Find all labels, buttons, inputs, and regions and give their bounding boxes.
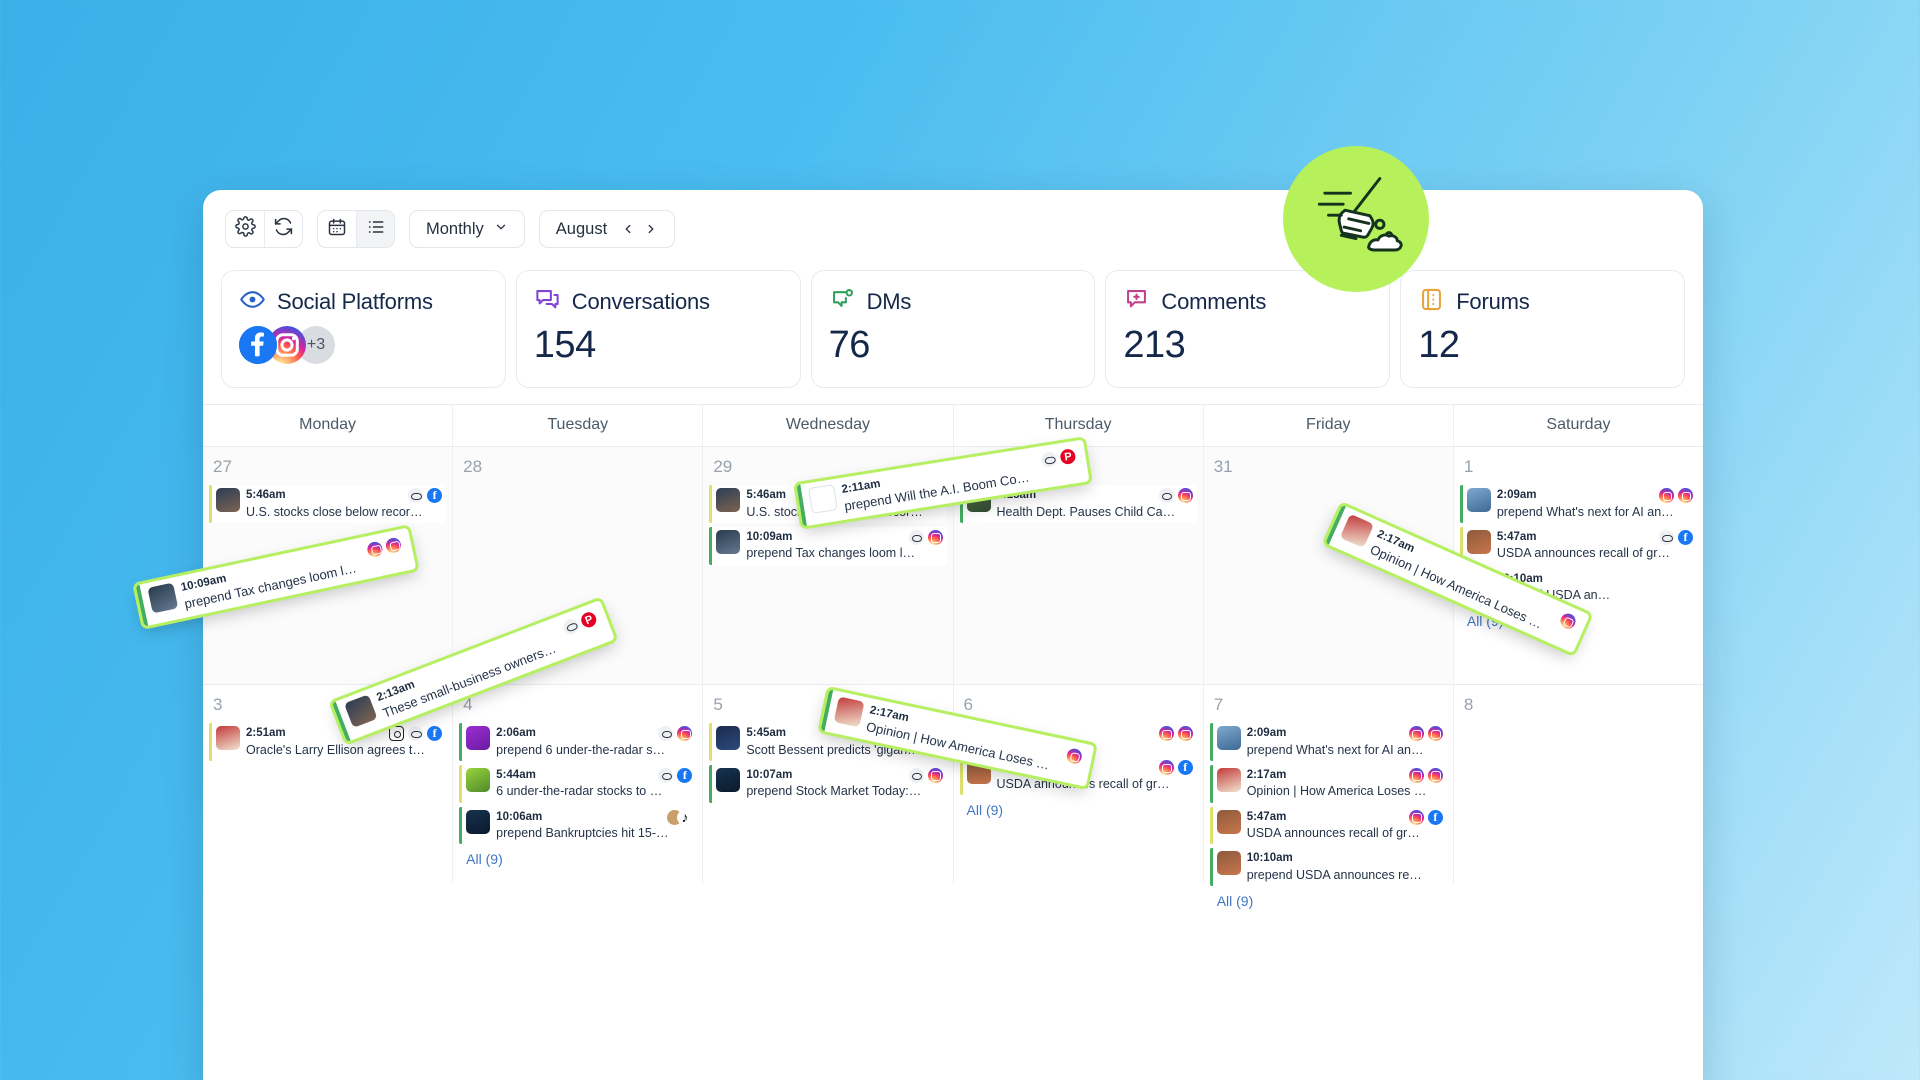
day-of-week-header: Friday [1204, 405, 1454, 446]
calendar-event[interactable]: 2:06amprepend 6 under-the-radar s… [459, 723, 696, 761]
instagram-icon [385, 536, 403, 554]
avatar-icon [1409, 726, 1424, 741]
day-of-week-header: Saturday [1454, 405, 1703, 446]
event-list: 2:06amprepend 6 under-the-radar s…5:44am… [459, 723, 696, 844]
event-thumbnail [1467, 530, 1491, 554]
show-all-events-link[interactable]: All (9) [1210, 886, 1447, 909]
event-title: prepend 6 under-the-radar s… [496, 742, 692, 758]
toolbar: Monthly August [203, 190, 1703, 254]
avatar-icon [1659, 488, 1674, 503]
facebook-icon [239, 326, 277, 364]
calendar-event[interactable]: 2:51amOracle's Larry Ellison agrees t… [209, 723, 446, 761]
instagram-icon [1178, 726, 1193, 741]
next-month-button[interactable] [644, 222, 658, 236]
event-thumbnail [216, 726, 240, 750]
visibility-icon [1041, 451, 1058, 468]
event-title: prepend What's next for AI an… [1247, 742, 1443, 758]
stat-card-social-platforms[interactable]: Social Platforms +3 [221, 270, 506, 388]
calendar-event[interactable]: 10:06amprepend Bankruptcies hit 15-… [459, 807, 696, 845]
stat-title: Social Platforms [277, 289, 433, 315]
chevron-down-icon [494, 220, 508, 239]
cleanup-badge[interactable] [1283, 146, 1429, 292]
avatar-icon [1409, 768, 1424, 783]
view-toggle-group [317, 210, 395, 248]
calendar-event[interactable]: 5:47amUSDA announces recall of gr… [1460, 527, 1697, 565]
stat-value: 213 [1123, 324, 1372, 367]
list-icon [366, 217, 386, 242]
event-title: Opinion | How America Loses … [1247, 783, 1443, 799]
gear-icon [235, 216, 256, 242]
visibility-icon [909, 530, 924, 545]
day-of-week-header: Monday [203, 405, 453, 446]
day-number: 28 [459, 455, 696, 485]
event-platform-icons [408, 488, 442, 503]
event-platform-icons [658, 726, 692, 741]
stat-title: Comments [1161, 289, 1266, 315]
event-thumbnail [466, 810, 490, 834]
event-thumbnail [1217, 726, 1241, 750]
day-number: 31 [1210, 455, 1447, 485]
event-list: 2:51amOracle's Larry Ellison agrees t… [209, 723, 446, 761]
avatar-icon [366, 540, 384, 558]
avatar-icon [1409, 810, 1424, 825]
event-platform-icons [1040, 446, 1076, 468]
event-title: USDA announces recall of gr… [997, 776, 1193, 792]
event-list: 5:46amU.S. stocks close below recor… [209, 485, 446, 523]
day-number: 6 [960, 693, 1197, 723]
event-thumbnail [1217, 810, 1241, 834]
chat-bubbles-icon [534, 286, 561, 318]
event-platform-icons [909, 768, 943, 783]
month-label: August [556, 220, 607, 239]
calendar-week-row: 32:51amOracle's Larry Ellison agrees t…4… [203, 684, 1703, 884]
day-number: 27 [209, 455, 446, 485]
visibility-icon [658, 726, 673, 741]
event-platform-icons [561, 608, 599, 636]
day-of-week-header: Wednesday [703, 405, 953, 446]
calendar-event[interactable]: 5:47amUSDA announces recall of gr… [1210, 807, 1447, 845]
visibility-icon [408, 488, 423, 503]
day-of-week-header: Tuesday [453, 405, 703, 446]
instagram-icon [1428, 768, 1443, 783]
day-number: 7 [1210, 693, 1447, 723]
day-number: 8 [1460, 693, 1697, 723]
calendar-view-button[interactable] [318, 211, 356, 247]
calendar-event[interactable]: 2:17amOpinion | How America Loses … [1210, 765, 1447, 803]
stat-value: 154 [534, 324, 783, 367]
event-thumbnail [466, 726, 490, 750]
event-title: prepend Bankruptcies hit 15-… [496, 825, 692, 841]
instagram-icon [677, 726, 692, 741]
event-thumbnail [216, 488, 240, 512]
event-thumbnail [147, 583, 178, 614]
visibility-icon [658, 768, 673, 783]
tiktok-icon [677, 810, 692, 825]
broom-icon [1301, 162, 1411, 277]
show-all-events-link[interactable]: All (9) [459, 844, 696, 867]
instagram-icon [1428, 726, 1443, 741]
event-title: prepend USDA announces re… [1247, 867, 1443, 883]
calendar-day-cell[interactable]: 42:06amprepend 6 under-the-radar s…5:44a… [453, 685, 703, 884]
month-navigator[interactable]: August [539, 210, 675, 248]
event-platform-icons [1159, 726, 1193, 741]
facebook-icon [427, 726, 442, 741]
event-platform-icons [909, 530, 943, 545]
calendar-icon [327, 217, 347, 242]
refresh-icon [273, 216, 294, 242]
event-thumbnail [716, 488, 740, 512]
event-thumbnail [716, 726, 740, 750]
stat-cards: Social Platforms +3 C [203, 254, 1703, 404]
event-thumbnail [466, 768, 490, 792]
pinterest-icon [579, 610, 598, 629]
event-thumbnail [716, 768, 740, 792]
pinterest-icon [1059, 448, 1076, 465]
instagram-icon [1065, 747, 1083, 765]
list-view-button[interactable] [356, 211, 394, 247]
event-platform-icons [1409, 810, 1443, 825]
visibility-icon [1159, 488, 1174, 503]
stat-value: 76 [829, 324, 1078, 367]
event-title: prepend What's next for AI an… [1497, 504, 1693, 520]
instagram-icon [928, 530, 943, 545]
calendar-event[interactable]: 5:46amU.S. stocks close below recor… [209, 485, 446, 523]
avatar-icon [1159, 760, 1174, 775]
event-thumbnail [1217, 768, 1241, 792]
event-time: 10:06am [496, 810, 692, 826]
prev-month-button[interactable] [621, 222, 635, 236]
event-platform-icons [1159, 760, 1193, 775]
event-title: USDA announces recall of gr… [1497, 545, 1693, 561]
visibility-icon [909, 768, 924, 783]
app-window: Monthly August [203, 190, 1703, 1080]
avatar-icon [1159, 726, 1174, 741]
event-body: 10:06amprepend Bankruptcies hit 15-… [496, 810, 692, 842]
event-title: Oracle's Larry Ellison agrees t… [246, 742, 442, 758]
event-thumbnail [1340, 514, 1374, 548]
facebook-icon [677, 768, 692, 783]
stat-title: Conversations [572, 289, 710, 315]
camera-icon [389, 726, 404, 741]
comment-plus-icon [1123, 286, 1150, 318]
event-thumbnail [808, 484, 838, 514]
event-title: prepend Stock Market Today:… [746, 783, 942, 799]
facebook-icon [1428, 810, 1443, 825]
day-number: 4 [459, 693, 696, 723]
calendar-day-cell[interactable]: 72:09amprepend What's next for AI an…2:1… [1204, 685, 1454, 884]
event-thumbnail [834, 696, 865, 727]
event-time: 10:10am [1247, 851, 1443, 867]
platform-avatars[interactable]: +3 [239, 326, 488, 364]
stat-title: Forums [1456, 289, 1529, 315]
event-title: Health Dept. Pauses Child Ca… [997, 504, 1193, 520]
show-all-events-link[interactable]: All (9) [960, 795, 1197, 818]
stat-card-forums[interactable]: Forums 12 [1400, 270, 1685, 388]
event-platform-icons [1159, 488, 1193, 503]
forums-icon [1418, 286, 1445, 318]
view-period-label: Monthly [426, 220, 484, 239]
calendar-event[interactable]: 10:07amprepend Stock Market Today:… [709, 765, 946, 803]
facebook-icon [1178, 760, 1193, 775]
event-platform-icons [366, 534, 403, 558]
refresh-button[interactable] [264, 211, 302, 247]
visibility-icon [562, 617, 581, 636]
event-platform-icons [389, 726, 442, 741]
event-title: 6 under-the-radar stocks to … [496, 783, 692, 799]
event-thumbnail [1467, 488, 1491, 512]
event-title: prepend Tax changes loom l… [746, 545, 942, 561]
calendar-event[interactable]: 5:44am6 under-the-radar stocks to … [459, 765, 696, 803]
event-platform-icons [1409, 768, 1443, 783]
eye-icon [239, 286, 266, 318]
facebook-icon [427, 488, 442, 503]
event-title: U.S. stocks close below recor… [246, 504, 442, 520]
event-body: 10:10amprepend USDA announces re… [1247, 851, 1443, 883]
calendar-day-cell[interactable]: 8 [1454, 685, 1703, 884]
event-thumbnail [716, 530, 740, 554]
instagram-icon [1558, 611, 1578, 631]
stat-title: DMs [867, 289, 912, 315]
calendar-header-row: MondayTuesdayWednesdayThursdayFridaySatu… [203, 405, 1703, 446]
calendar-event[interactable]: 2:09amprepend What's next for AI an… [1210, 723, 1447, 761]
calendar-event[interactable]: 10:09amprepend Tax changes loom l… [709, 527, 946, 565]
visibility-icon [1659, 530, 1674, 545]
calendar-event[interactable]: 10:10amprepend USDA announces re… [1210, 848, 1447, 886]
day-number: 1 [1460, 455, 1697, 485]
settings-button[interactable] [226, 211, 264, 247]
stat-card-conversations[interactable]: Conversations 154 [516, 270, 801, 388]
event-thumbnail [344, 694, 378, 728]
event-platform-icons [1409, 726, 1443, 741]
visibility-icon [408, 726, 423, 741]
event-platform-icons [1558, 609, 1579, 631]
stat-value: 12 [1418, 324, 1667, 367]
instagram-icon [1178, 488, 1193, 503]
event-platform-icons [658, 768, 692, 783]
event-list: 2:09amprepend What's next for AI an…2:17… [1210, 723, 1447, 886]
calendar-day-cell[interactable]: 12:09amprepend What's next for AI an…5:4… [1454, 447, 1703, 684]
instagram-icon [1678, 488, 1693, 503]
facebook-icon [1678, 530, 1693, 545]
dm-bubble-icon [829, 286, 856, 318]
instagram-icon [928, 768, 943, 783]
event-platform-icons [1659, 488, 1693, 503]
event-platform-icons [667, 810, 692, 825]
event-thumbnail [1217, 851, 1241, 875]
toolbar-icon-group [225, 210, 303, 248]
stat-card-dms[interactable]: DMs 76 [811, 270, 1096, 388]
event-platform-icons [1659, 530, 1693, 545]
event-time: 10:10am [1497, 572, 1693, 588]
event-title: USDA announces recall of gr… [1247, 825, 1443, 841]
calendar-event[interactable]: 2:09amprepend What's next for AI an… [1460, 485, 1697, 523]
event-platform-icons [1065, 745, 1083, 765]
view-period-select[interactable]: Monthly [409, 210, 525, 248]
